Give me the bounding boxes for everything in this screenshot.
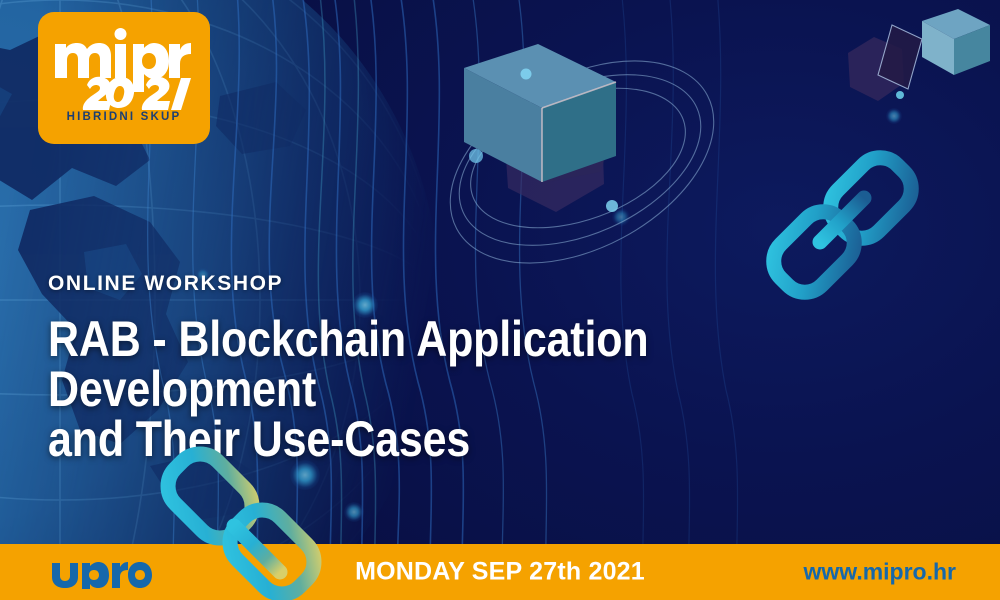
footer-mipro-logo[interactable] xyxy=(48,555,152,589)
isometric-cube-icon xyxy=(922,9,990,75)
event-date: MONDAY SEP 27th 2021 xyxy=(355,558,645,587)
hexagon-icon xyxy=(504,96,616,212)
cube-orbit-graphic xyxy=(420,10,740,310)
website-link[interactable]: www.mipro.hr xyxy=(804,559,957,586)
mipro-logo-icon xyxy=(49,22,199,110)
copy-block: ONLINE WORKSHOP RAB - Blockchain Applica… xyxy=(48,272,968,464)
footer-bar: MONDAY SEP 27th 2021 www.mipro.hr xyxy=(0,544,1000,600)
eyebrow-label: ONLINE WORKSHOP xyxy=(48,272,968,296)
mipro-logo-icon xyxy=(48,555,152,589)
wireframe-diamond-icon xyxy=(878,25,922,89)
isometric-cube-icon xyxy=(464,44,616,182)
orbit-node xyxy=(469,69,618,213)
logo-tagline: HIBRIDNI SKUP xyxy=(67,111,182,123)
mipro-logo-badge[interactable]: HIBRIDNI SKUP xyxy=(38,12,210,144)
glow-node xyxy=(344,502,364,522)
page-title: RAB - Blockchain Application Development… xyxy=(48,314,839,464)
glow-node xyxy=(612,208,630,226)
chain-link-icon xyxy=(170,440,345,600)
event-banner: HIBRIDNI SKUP ONLINE WORKSHOP RAB - Bloc… xyxy=(0,0,1000,600)
hexagon-icon xyxy=(848,37,904,101)
glow-node xyxy=(886,108,902,124)
orbit-icon xyxy=(416,19,748,304)
top-right-shapes xyxy=(830,5,1000,135)
